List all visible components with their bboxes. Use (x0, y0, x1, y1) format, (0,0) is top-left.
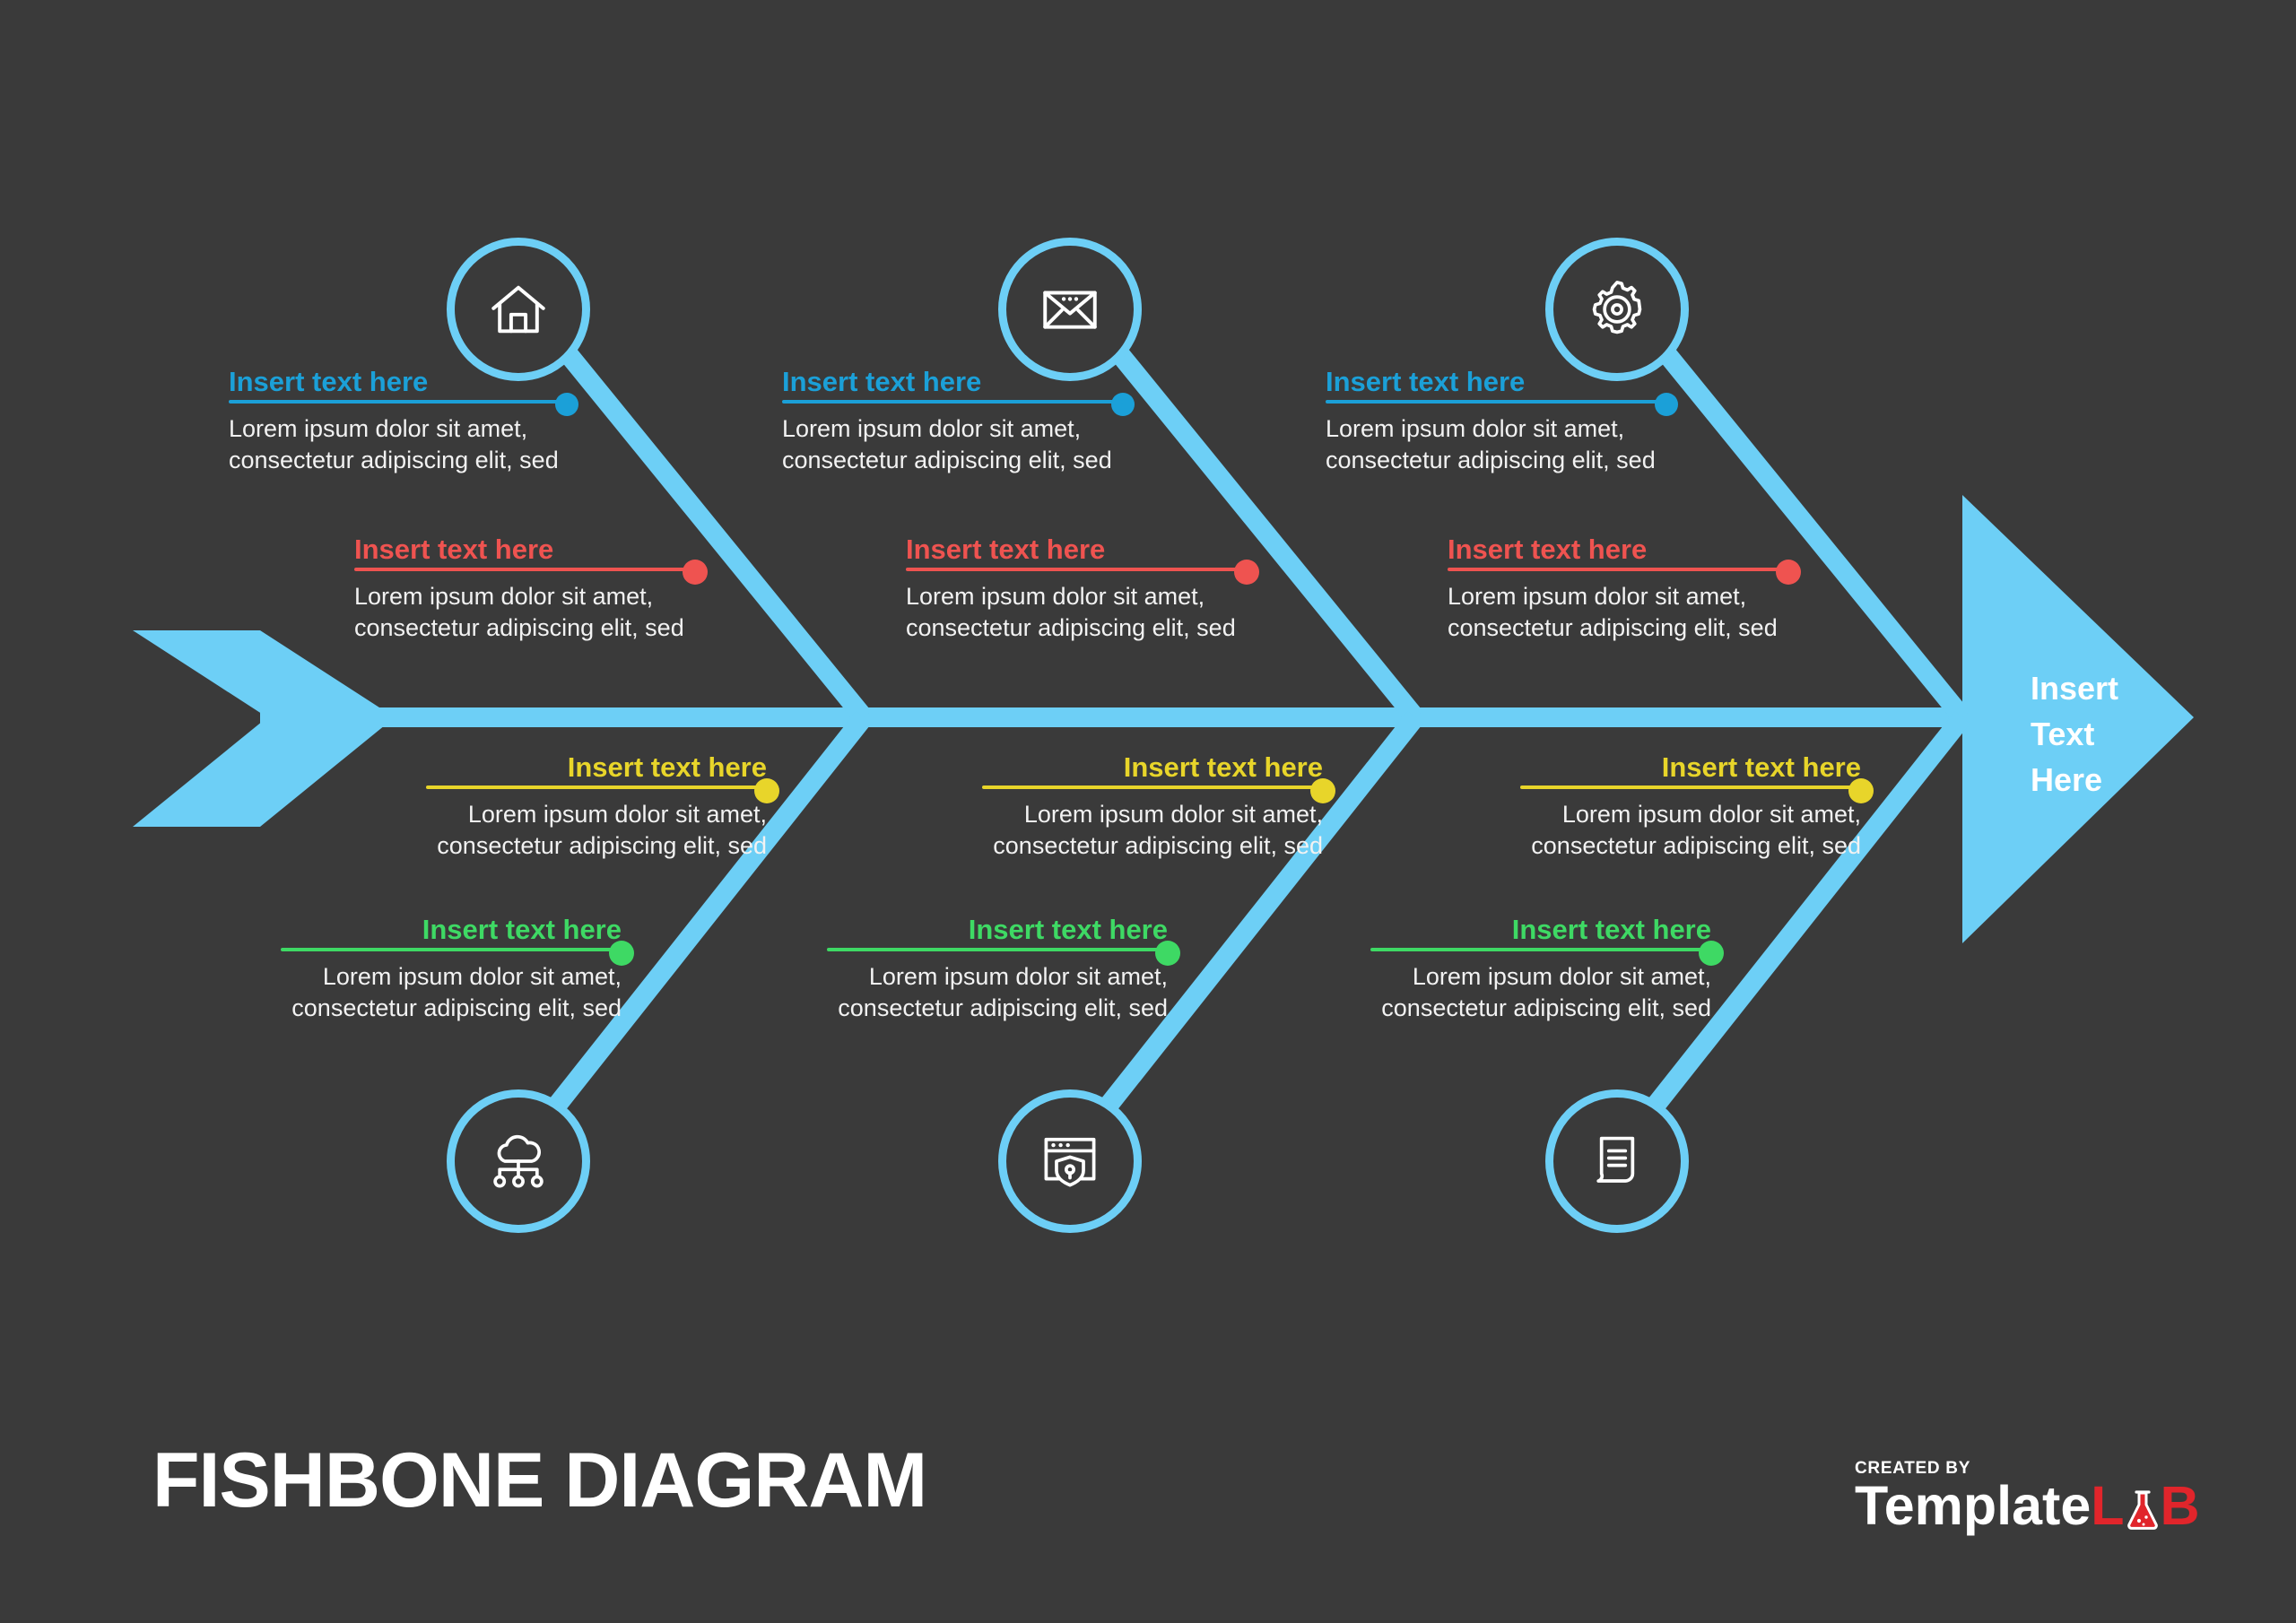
branch-rule (281, 948, 622, 951)
gear-icon-badge[interactable] (1545, 238, 1689, 381)
bone-upper-3 (1631, 309, 1962, 717)
branch-body: Lorem ipsum dolor sit amet, consectetur … (281, 961, 622, 1025)
logo-wordmark: TemplateL B (1855, 1479, 2200, 1533)
branch-heading: Insert text here (1520, 753, 1861, 783)
branch-body: Lorem ipsum dolor sit amet, consectetur … (354, 581, 695, 645)
fishbone-diagram-canvas: Insert Text Here Insert text here Lorem … (0, 0, 2296, 1623)
branch-rule (782, 400, 1123, 404)
branch-rule (1370, 948, 1711, 951)
branch-rule (827, 948, 1168, 951)
branch-body: Lorem ipsum dolor sit amet, consectetur … (982, 799, 1323, 863)
branch-body: Lorem ipsum dolor sit amet, consectetur … (782, 413, 1123, 477)
scroll-icon-badge[interactable] (1545, 1089, 1689, 1233)
branch-body: Lorem ipsum dolor sit amet, consectetur … (827, 961, 1168, 1025)
templatelab-logo[interactable]: CREATED BY TemplateL B (1855, 1460, 2200, 1533)
cloud-network-icon-badge[interactable] (447, 1089, 590, 1233)
branch-heading: Insert text here (827, 916, 1168, 945)
envelope-icon (1037, 276, 1103, 343)
scroll-icon (1584, 1128, 1650, 1194)
branch-body: Lorem ipsum dolor sit amet, consectetur … (229, 413, 570, 477)
branch-rule (1520, 785, 1861, 789)
branch-rule (906, 568, 1247, 571)
branch-rule (426, 785, 767, 789)
head-label: Insert Text Here (2031, 665, 2118, 803)
branch-block-top-1[interactable]: Insert text here Lorem ipsum dolor sit a… (229, 368, 570, 477)
branch-block-upper-2[interactable]: Insert text here Lorem ipsum dolor sit a… (906, 535, 1247, 645)
branch-heading: Insert text here (281, 916, 622, 945)
branch-body: Lorem ipsum dolor sit amet, consectetur … (1448, 581, 1788, 645)
branch-heading: Insert text here (982, 753, 1323, 783)
flask-icon (2125, 1488, 2161, 1531)
page-title: FISHBONE DIAGRAM (152, 1436, 926, 1525)
branch-heading: Insert text here (354, 535, 695, 565)
branch-body: Lorem ipsum dolor sit amet, consectetur … (426, 799, 767, 863)
browser-shield-icon (1037, 1128, 1103, 1194)
branch-block-lower-2[interactable]: Insert text here Lorem ipsum dolor sit a… (982, 753, 1323, 863)
branch-block-bottom-3[interactable]: Insert text here Lorem ipsum dolor sit a… (1370, 916, 1711, 1025)
branch-body: Lorem ipsum dolor sit amet, consectetur … (1370, 961, 1711, 1025)
branch-heading: Insert text here (1448, 535, 1788, 565)
branch-heading: Insert text here (1326, 368, 1666, 397)
branch-block-top-3[interactable]: Insert text here Lorem ipsum dolor sit a… (1326, 368, 1666, 477)
branch-heading: Insert text here (229, 368, 570, 397)
home-icon-badge[interactable] (447, 238, 590, 381)
branch-block-lower-3[interactable]: Insert text here Lorem ipsum dolor sit a… (1520, 753, 1861, 863)
branch-heading: Insert text here (906, 535, 1247, 565)
home-icon (485, 276, 552, 343)
branch-rule (354, 568, 695, 571)
branch-rule (1326, 400, 1666, 404)
branch-block-bottom-1[interactable]: Insert text here Lorem ipsum dolor sit a… (281, 916, 622, 1025)
branch-body: Lorem ipsum dolor sit amet, consectetur … (906, 581, 1247, 645)
spine (260, 707, 1991, 727)
logo-template-word: Template (1855, 1475, 2091, 1536)
branch-block-bottom-2[interactable]: Insert text here Lorem ipsum dolor sit a… (827, 916, 1168, 1025)
branch-rule (982, 785, 1323, 789)
branch-heading: Insert text here (1370, 916, 1711, 945)
branch-rule (229, 400, 570, 404)
branch-body: Lorem ipsum dolor sit amet, consectetur … (1520, 799, 1861, 863)
branch-rule (1448, 568, 1788, 571)
branch-block-upper-3[interactable]: Insert text here Lorem ipsum dolor sit a… (1448, 535, 1788, 645)
branch-block-top-2[interactable]: Insert text here Lorem ipsum dolor sit a… (782, 368, 1123, 477)
branch-heading: Insert text here (782, 368, 1123, 397)
envelope-icon-badge[interactable] (998, 238, 1142, 381)
gear-icon (1584, 276, 1650, 343)
branch-block-upper-1[interactable]: Insert text here Lorem ipsum dolor sit a… (354, 535, 695, 645)
logo-l-letter: L (2091, 1475, 2124, 1536)
tail-chevron (133, 630, 395, 827)
branch-heading: Insert text here (426, 753, 767, 783)
branch-body: Lorem ipsum dolor sit amet, consectetur … (1326, 413, 1666, 477)
browser-shield-icon-badge[interactable] (998, 1089, 1142, 1233)
cloud-network-icon (485, 1128, 552, 1194)
logo-b-letter: B (2161, 1475, 2200, 1536)
branch-block-lower-1[interactable]: Insert text here Lorem ipsum dolor sit a… (426, 753, 767, 863)
